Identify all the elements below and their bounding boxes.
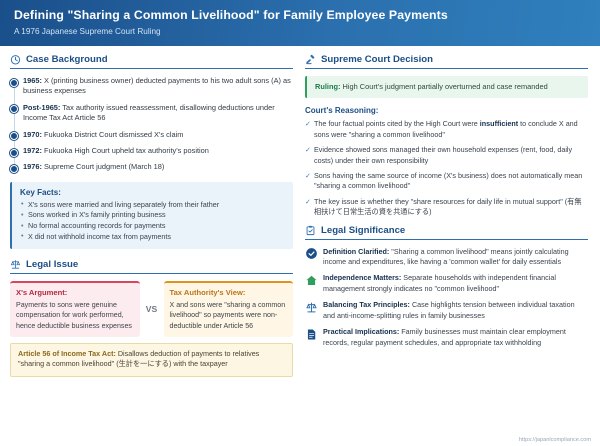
timeline-year: 1972: <box>23 146 42 155</box>
footer-url: https://japanlcompliance.com <box>519 437 591 443</box>
scales-icon <box>10 259 21 270</box>
timeline-dot-icon <box>10 165 18 173</box>
right-column: Supreme Court Decision Ruling: High Cour… <box>305 54 588 377</box>
list-item: X did not withhold income tax from payme… <box>20 232 285 243</box>
timeline-year: Post-1965: <box>23 103 60 112</box>
timeline-year: 1970: <box>23 130 42 139</box>
argument-title: Tax Authority's View: <box>170 288 288 297</box>
check-icon: ✓ <box>305 197 311 207</box>
significance-text: Balancing Tax Principles: Case highlight… <box>323 300 588 321</box>
timeline-item: 1965: X (printing business owner) deduct… <box>23 76 293 97</box>
significance-text: Practical Implications: Family businesse… <box>323 327 588 348</box>
reasoning-lead: The key issue is whether they "share res… <box>314 197 582 216</box>
key-facts-list: X's sons were married and living separat… <box>20 200 285 242</box>
timeline-item: 1970: Fukuoka District Court dismissed X… <box>23 130 293 140</box>
argument-card-tax-authority: Tax Authority's View: X and sons were "s… <box>164 281 294 337</box>
timeline-dot-icon <box>10 105 18 113</box>
decision-header: Supreme Court Decision <box>305 54 588 69</box>
timeline-text: X (printing business owner) deducted pay… <box>23 76 291 95</box>
reasoning-lead: Evidence showed sons managed their own h… <box>314 145 572 164</box>
check-icon: ✓ <box>305 119 311 129</box>
decision-title: Supreme Court Decision <box>321 54 433 65</box>
clock-history-icon <box>10 54 21 65</box>
significance-text: Independence Matters: Separate household… <box>323 273 588 294</box>
timeline-item: 1976: Supreme Court judgment (March 18) <box>23 162 293 172</box>
reasoning-emphasis: insufficient <box>480 119 518 128</box>
article-56-box: Article 56 of Income Tax Act: Disallows … <box>10 343 293 377</box>
argument-card-plaintiff: X's Argument: Payments to sons were genu… <box>10 281 140 337</box>
legal-issue-title: Legal Issue <box>26 259 78 270</box>
significance-lead: Definition Clarified: <box>323 247 389 256</box>
ruling-label: Ruling: <box>315 82 340 91</box>
check-circle-icon <box>305 247 318 260</box>
timeline-year: 1965: <box>23 76 42 85</box>
reasoning-item: ✓ Evidence showed sons managed their own… <box>305 145 588 166</box>
timeline-item: Post-1965: Tax authority issued reassess… <box>23 103 293 124</box>
list-item: X's sons were married and living separat… <box>20 200 285 211</box>
timeline-dot-icon <box>10 132 18 140</box>
legal-issue-header: Legal Issue <box>10 259 293 274</box>
list-item: No formal accounting records for payment… <box>20 221 285 232</box>
reasoning-lead: Sons having the same source of income (X… <box>314 171 582 190</box>
check-icon: ✓ <box>305 145 311 155</box>
timeline: 1965: X (printing business owner) deduct… <box>10 76 293 173</box>
page-title: Defining "Sharing a Common Livelihood" f… <box>14 7 586 23</box>
argument-text: X and sons were "sharing a common liveli… <box>170 300 288 331</box>
list-item: Sons worked in X's family printing busin… <box>20 210 285 221</box>
case-background-title: Case Background <box>26 54 108 65</box>
key-facts-title: Key Facts: <box>20 188 285 197</box>
content-body: Case Background 1965: X (printing busine… <box>0 46 600 377</box>
reasoning-item: ✓ The key issue is whether they "share r… <box>305 197 588 218</box>
argument-title: X's Argument: <box>16 288 134 297</box>
document-icon <box>305 328 318 341</box>
significance-item: Definition Clarified: "Sharing a common … <box>305 247 588 268</box>
page-header: Defining "Sharing a Common Livelihood" f… <box>0 0 600 46</box>
reasoning-lead: The four factual points cited by the Hig… <box>314 119 480 128</box>
significance-lead: Balancing Tax Principles: <box>323 300 410 309</box>
page-subtitle: A 1976 Japanese Supreme Court Ruling <box>14 26 586 37</box>
left-column: Case Background 1965: X (printing busine… <box>10 54 293 377</box>
significance-item: Practical Implications: Family businesse… <box>305 327 588 348</box>
significance-header: Legal Significance <box>305 225 588 240</box>
timeline-text: Supreme Court judgment (March 18) <box>44 162 164 171</box>
significance-lead: Practical Implications: <box>323 327 399 336</box>
timeline-text: Tax authority issued reassessment, disal… <box>23 103 275 122</box>
vs-label: VS <box>145 304 159 314</box>
timeline-text: Fukuoka High Court upheld tax authority'… <box>44 146 209 155</box>
reasoning-title: Court's Reasoning: <box>305 106 588 115</box>
timeline-text: Fukuoka District Court dismissed X's cla… <box>44 130 183 139</box>
arguments-comparison: X's Argument: Payments to sons were genu… <box>10 281 293 337</box>
timeline-dot-icon <box>10 79 18 87</box>
timeline-item: 1972: Fukuoka High Court upheld tax auth… <box>23 146 293 156</box>
ruling-text: High Court's judgment partially overturn… <box>340 82 547 91</box>
ruling-box: Ruling: High Court's judgment partially … <box>305 76 588 98</box>
significance-lead: Independence Matters: <box>323 273 401 282</box>
case-background-header: Case Background <box>10 54 293 69</box>
reasoning-item: ✓ Sons having the same source of income … <box>305 171 588 192</box>
timeline-year: 1976: <box>23 162 42 171</box>
balance-icon <box>305 301 318 314</box>
reasoning-item: ✓ The four factual points cited by the H… <box>305 119 588 140</box>
key-facts-box: Key Facts: X's sons were married and liv… <box>10 182 293 249</box>
significance-item: Independence Matters: Separate household… <box>305 273 588 294</box>
clipboard-check-icon <box>305 225 316 236</box>
timeline-dot-icon <box>10 149 18 157</box>
gavel-icon <box>305 54 316 65</box>
article-label: Article 56 of Income Tax Act: <box>18 349 116 358</box>
home-icon <box>305 274 318 287</box>
argument-text: Payments to sons were genuine compensati… <box>16 300 134 331</box>
check-icon: ✓ <box>305 171 311 181</box>
significance-title: Legal Significance <box>321 225 405 236</box>
significance-text: Definition Clarified: "Sharing a common … <box>323 247 588 268</box>
significance-item: Balancing Tax Principles: Case highlight… <box>305 300 588 321</box>
infographic-page: Defining "Sharing a Common Livelihood" f… <box>0 0 600 446</box>
